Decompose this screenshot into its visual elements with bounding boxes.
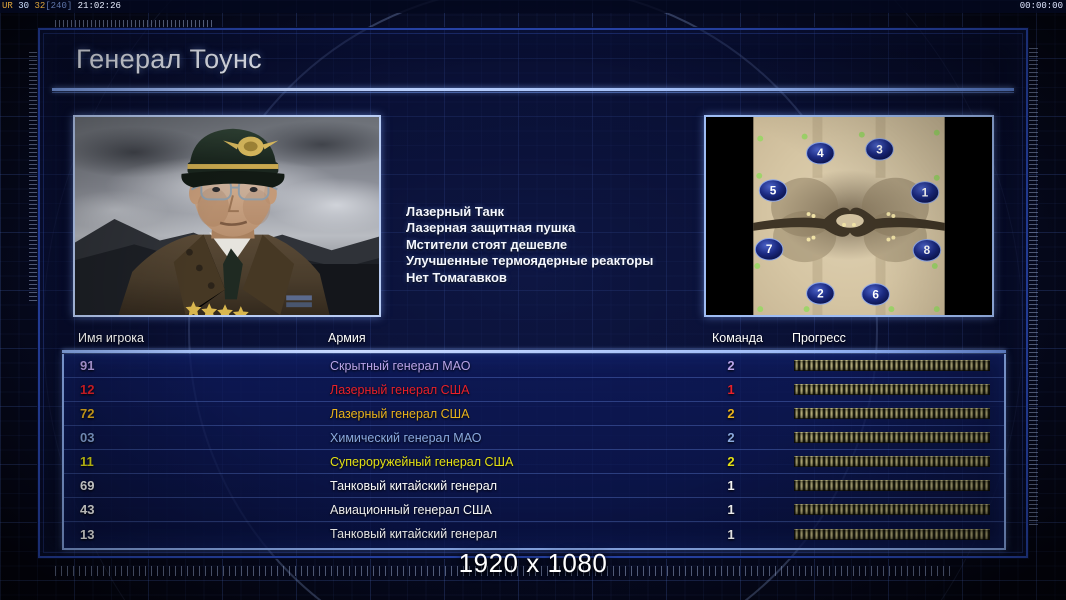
svg-text:3: 3 <box>876 143 883 156</box>
status-num2: 32 <box>34 1 45 11</box>
cell-player-name: 43 <box>80 502 94 517</box>
description-line: Лазерная защитная пушка <box>406 220 706 236</box>
cell-team: 2 <box>722 454 740 469</box>
column-header-army: Армия <box>328 331 366 345</box>
cell-army: Лазерный генерал США <box>330 407 469 421</box>
page-title: Генерал Тоунс <box>76 44 262 75</box>
cell-player-name: 11 <box>80 454 94 469</box>
cell-progress-bar <box>794 384 990 395</box>
cell-player-name: 03 <box>80 430 94 445</box>
cell-progress-bar <box>794 408 990 419</box>
svg-text:7: 7 <box>766 243 773 256</box>
table-row[interactable]: 12Лазерный генерал США1 <box>64 378 1004 402</box>
cell-army: Скрытный генерал МАО <box>330 359 470 373</box>
table-row[interactable]: 13Танковый китайский генерал1 <box>64 522 1004 546</box>
svg-text:2: 2 <box>817 287 824 300</box>
title-zone: Генерал Тоунс <box>40 30 1026 90</box>
status-right-timer: 00:00:00 <box>1020 0 1063 13</box>
status-left: UR 30 32[240] 21:02:26 <box>2 0 121 13</box>
cell-progress-bar <box>794 456 990 467</box>
description-line: Нет Томагавков <box>406 270 706 286</box>
svg-text:1: 1 <box>922 186 929 199</box>
table-row[interactable]: 72Лазерный генерал США2 <box>64 402 1004 426</box>
game-screen: UR 30 32[240] 21:02:26 00:00:00 Генерал … <box>0 0 1066 600</box>
cell-team: 1 <box>722 527 740 542</box>
cell-player-name: 91 <box>80 358 94 373</box>
cell-team: 1 <box>722 502 740 517</box>
status-prefix: UR <box>2 1 13 11</box>
cell-army: Лазерный генерал США <box>330 383 469 397</box>
cell-team: 2 <box>722 358 740 373</box>
portrait-image <box>75 117 379 315</box>
description-line: Лазерный Танк <box>406 204 706 220</box>
cell-team: 2 <box>722 406 740 421</box>
description-line: Мстители стоят дешевле <box>406 237 706 253</box>
cell-player-name: 69 <box>80 478 94 493</box>
general-portrait <box>73 115 381 317</box>
ruler-right <box>1029 48 1038 528</box>
status-bracket: [240] <box>45 1 72 11</box>
resolution-overlay: 1920 x 1080 <box>0 548 1066 579</box>
table-row[interactable]: 11Супероружейный генерал США2 <box>64 450 1004 474</box>
cell-player-name: 12 <box>80 382 94 397</box>
description-line: Улучшенные термоядерные реакторы <box>406 253 706 269</box>
column-header-progress: Прогресс <box>792 331 846 345</box>
cell-team: 1 <box>722 382 740 397</box>
table-row[interactable]: 69Танковый китайский генерал1 <box>64 474 1004 498</box>
table-row[interactable]: 43Авиационный генерал США1 <box>64 498 1004 522</box>
table-row[interactable]: 03Химический генерал МАО2 <box>64 426 1004 450</box>
cell-player-name: 13 <box>80 527 94 542</box>
cell-army: Авиационный генерал США <box>330 503 492 517</box>
map-preview[interactable]: 4 3 5 1 7 8 2 6 <box>704 115 994 317</box>
svg-text:5: 5 <box>770 184 777 197</box>
map-preview-image: 4 3 5 1 7 8 2 6 <box>706 117 992 315</box>
cell-progress-bar <box>794 529 990 540</box>
column-header-player-name: Имя игрока <box>78 331 144 345</box>
cell-army: Танковый китайский генерал <box>330 479 497 493</box>
column-header-team: Команда <box>712 331 763 345</box>
media-row: Лазерный Танк Лазерная защитная пушка Мс… <box>40 108 1026 324</box>
cell-team: 1 <box>722 478 740 493</box>
top-status-bar: UR 30 32[240] 21:02:26 00:00:00 <box>0 0 1066 13</box>
table-header-row: Имя игрока Армия Команда Прогресс <box>40 330 1026 352</box>
status-num1: 30 <box>18 1 29 11</box>
cell-progress-bar <box>794 360 990 371</box>
status-clock: 21:02:26 <box>78 1 121 11</box>
table-body: 91Скрытный генерал МАО212Лазерный генера… <box>62 354 1006 550</box>
cell-progress-bar <box>794 432 990 443</box>
general-description: Лазерный Танк Лазерная защитная пушка Мс… <box>406 204 706 286</box>
cell-progress-bar <box>794 504 990 515</box>
cell-progress-bar <box>794 480 990 491</box>
cell-player-name: 72 <box>80 406 94 421</box>
main-panel: Генерал Тоунс <box>38 28 1028 558</box>
table-row[interactable]: 91Скрытный генерал МАО2 <box>64 354 1004 378</box>
table-header-divider <box>62 350 1006 353</box>
svg-text:6: 6 <box>872 288 879 301</box>
title-divider <box>52 88 1014 91</box>
cell-army: Супероружейный генерал США <box>330 455 513 469</box>
svg-text:8: 8 <box>924 244 931 257</box>
svg-text:4: 4 <box>817 147 824 160</box>
ruler-left <box>29 52 38 302</box>
cell-army: Танковый китайский генерал <box>330 527 497 541</box>
cell-army: Химический генерал МАО <box>330 431 481 445</box>
title-divider-sub <box>52 92 1014 93</box>
player-table: Имя игрока Армия Команда Прогресс 91Скры… <box>40 330 1026 556</box>
cell-team: 2 <box>722 430 740 445</box>
